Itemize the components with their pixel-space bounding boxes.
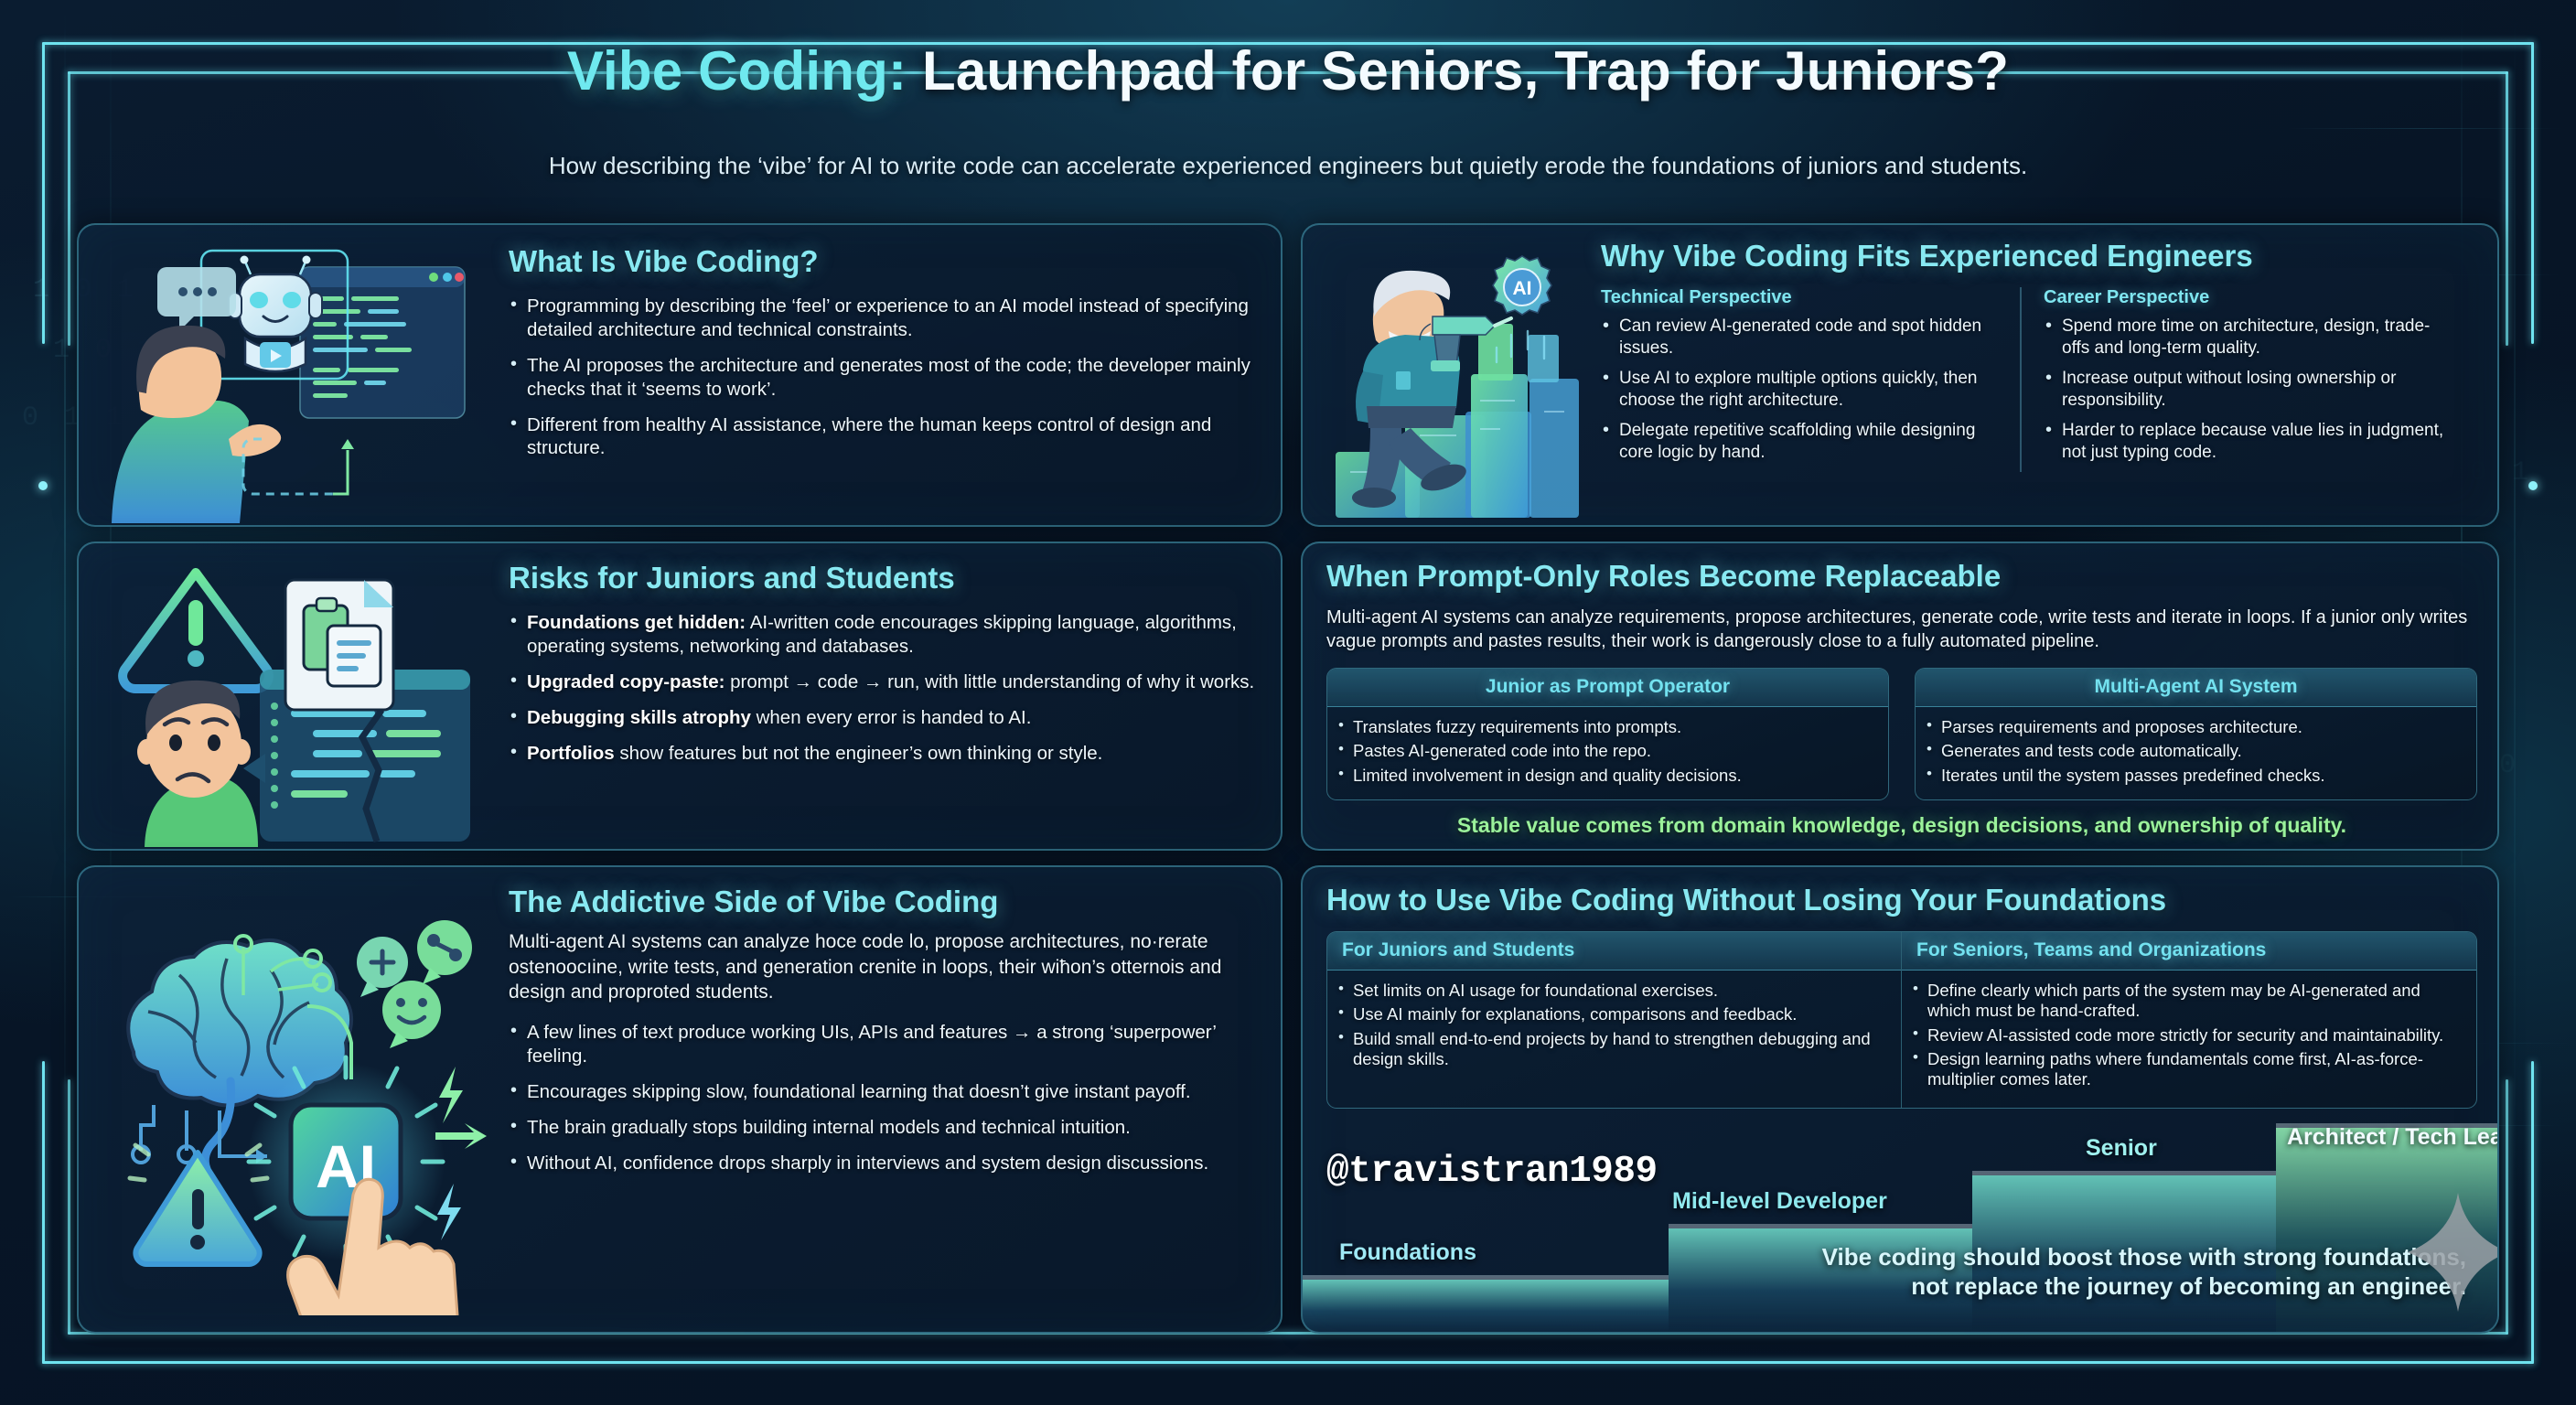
page-subtitle: How describing the ‘vibe’ for AI to writ…	[0, 152, 2576, 180]
list-item: Programming by describing the ‘feel’ or …	[509, 295, 1268, 342]
stair-step-foundations	[1303, 1275, 1669, 1332]
panel-title-why-fits: Why Vibe Coding Fits Experienced Enginee…	[1601, 240, 2485, 273]
risk-rest: show features but not the engineer’s own…	[615, 743, 1103, 764]
panel-title-what-is: What Is Vibe Coding?	[509, 245, 1268, 278]
list-item: The brain gradually stops building inter…	[509, 1116, 1277, 1140]
card-heading: For Juniors and Students	[1327, 932, 1901, 971]
replaceable-intro: Multi-agent AI systems can analyze requi…	[1326, 606, 2477, 653]
list-item: Parses requirements and proposes archite…	[1925, 717, 2463, 737]
brain-connected-to-ai-chip-with-pointing-hand-illustration: AI	[91, 887, 494, 1315]
what-is-bullet-list: Programming by describing the ‘feel’ or …	[509, 295, 1268, 460]
list-item: Pastes AI-generated code into the repo.	[1336, 741, 1875, 761]
list-item: Translates fuzzy requirements into promp…	[1336, 717, 1875, 737]
list-item: Debugging skills atrophy when every erro…	[509, 706, 1277, 730]
panel-why-fits-experienced-engineers: AI	[1301, 223, 2499, 527]
developer-talking-to-ai-chatbot-illustration	[91, 231, 476, 523]
list-item: Define clearly which parts of the system…	[1911, 981, 2463, 1021]
junior-bullet-list: Translates fuzzy requirements into promp…	[1336, 717, 1875, 786]
panel-risks-for-juniors: Risks for Juniors and Students Foundatio…	[77, 542, 1283, 851]
column-heading: Technical Perspective	[1601, 287, 2000, 308]
card-heading: Junior as Prompt Operator	[1327, 669, 1888, 707]
list-item: Upgraded copy-paste: prompt → code → run…	[509, 670, 1277, 694]
title-highlight: Vibe Coding:	[567, 40, 907, 102]
list-item: The AI proposes the architecture and gen…	[509, 354, 1268, 402]
risks-bullet-list: Foundations get hidden: AI-written code …	[509, 611, 1277, 765]
stair-label-foundations: Foundations	[1339, 1239, 1476, 1266]
list-item: Without AI, confidence drops sharply in …	[509, 1152, 1277, 1175]
list-item: Review AI-assisted code more strictly fo…	[1911, 1025, 2463, 1046]
panel-title-risks: Risks for Juniors and Students	[509, 562, 1277, 595]
multi-agent-bullet-list: Parses requirements and proposes archite…	[1925, 717, 2463, 786]
panel-addictive-side: AI	[77, 865, 1283, 1334]
stair-label-senior: Senior	[2086, 1135, 2157, 1162]
list-item: Different from healthy AI assistance, wh…	[509, 413, 1268, 461]
list-item: Use AI mainly for explanations, comparis…	[1336, 1004, 1888, 1024]
list-item: Delegate repetitive scaffolding while de…	[1601, 420, 2000, 464]
panel-title-replaceable: When Prompt-Only Roles Become Replaceabl…	[1326, 560, 2477, 593]
juniors-guidance-list: Set limits on AI usage for foundational …	[1336, 981, 1888, 1069]
risk-rest: prompt → code → run, with little underst…	[724, 671, 1254, 692]
addictive-intro: Multi-agent AI systems can analyze hoce …	[509, 929, 1277, 1004]
card-multi-agent-ai-system: Multi-Agent AI System Parses requirement…	[1915, 668, 2477, 800]
author-handle: @travistran1989	[1326, 1151, 1658, 1193]
column-seniors-teams-orgs: For Seniors, Teams and Organizations Def…	[1902, 932, 2476, 1108]
closing-line-1: Vibe coding should boost those with stro…	[1822, 1243, 2466, 1271]
list-item: Increase output without losing ownership…	[2044, 368, 2452, 412]
list-item: Build small end-to-end projects by hand …	[1336, 1029, 1888, 1069]
list-item: Foundations get hidden: AI-written code …	[509, 611, 1277, 659]
list-item: Use AI to explore multiple options quick…	[1601, 368, 2000, 412]
career-perspective-column: Career Perspective Spend more time on ar…	[2022, 287, 2452, 472]
list-item: Encourages skipping slow, foundational l…	[509, 1080, 1277, 1104]
card-heading: For Seniors, Teams and Organizations	[1902, 932, 2476, 971]
list-item: Design learning paths where fundamentals…	[1911, 1049, 2463, 1089]
sparkle-icon	[2408, 1193, 2499, 1312]
risk-lead: Foundations get hidden:	[527, 612, 746, 633]
panel-what-is-vibe-coding: What Is Vibe Coding? Programming by desc…	[77, 223, 1283, 527]
risk-lead: Upgraded copy-paste:	[527, 671, 724, 692]
card-heading: Multi-Agent AI System	[1916, 669, 2476, 707]
seniors-guidance-list: Define clearly which parts of the system…	[1911, 981, 2463, 1089]
risk-lead: Portfolios	[527, 743, 615, 764]
technical-bullet-list: Can review AI-generated code and spot hi…	[1601, 316, 2000, 464]
page-title: Vibe Coding: Launchpad for Seniors, Trap…	[0, 42, 2576, 101]
list-item: Portfolios show features but not the eng…	[509, 742, 1277, 766]
panel-how-to-use-without-losing-foundations: How to Use Vibe Coding Without Losing Yo…	[1301, 865, 2499, 1334]
column-juniors-students: For Juniors and Students Set limits on A…	[1327, 932, 1902, 1108]
list-item: Spend more time on architecture, design,…	[2044, 316, 2452, 359]
list-item: Can review AI-generated code and spot hi…	[1601, 316, 2000, 359]
career-bullet-list: Spend more time on architecture, design,…	[2044, 316, 2452, 464]
title-rest: Launchpad for Seniors, Trap for Juniors?	[907, 40, 2009, 102]
panel-title-how-to-use: How to Use Vibe Coding Without Losing Yo…	[1326, 884, 2477, 917]
list-item: Set limits on AI usage for foundational …	[1336, 981, 1888, 1001]
column-heading: Career Perspective	[2044, 287, 2452, 308]
closing-line-2: not replace the journey of becoming an e…	[1911, 1272, 2466, 1300]
addictive-bullet-list: A few lines of text produce working UIs,…	[509, 1021, 1277, 1174]
closing-message: Vibe coding should boost those with stro…	[1771, 1242, 2466, 1301]
stair-label-architect: Architect / Tech Lead	[2287, 1124, 2499, 1151]
list-item: Iterates until the system passes predefi…	[1925, 766, 2463, 786]
technical-perspective-column: Technical Perspective Can review AI-gene…	[1601, 287, 2022, 472]
list-item: Harder to replace because value lies in …	[2044, 420, 2452, 464]
list-item: Limited involvement in design and qualit…	[1336, 766, 1875, 786]
stair-label-mid-level: Mid-level Developer	[1672, 1188, 1887, 1215]
risk-rest: when every error is handed to AI.	[751, 707, 1032, 728]
risk-lead: Debugging skills atrophy	[527, 707, 751, 728]
senior-engineer-with-drill-and-ai-gear-illustration: AI	[1317, 232, 1592, 521]
replaceable-footer-note: Stable value comes from domain knowledge…	[1326, 813, 2477, 838]
card-junior-as-prompt-operator: Junior as Prompt Operator Translates fuz…	[1326, 668, 1889, 800]
warning-triangle-clipboard-worried-student-illustration	[93, 549, 478, 847]
list-item: Generates and tests code automatically.	[1925, 741, 2463, 761]
panel-title-addictive: The Addictive Side of Vibe Coding	[509, 885, 1277, 918]
list-item: A few lines of text produce working UIs,…	[509, 1021, 1277, 1068]
panel-when-prompt-only-replaceable: When Prompt-Only Roles Become Replaceabl…	[1301, 542, 2499, 851]
svg-text:AI: AI	[1513, 278, 1532, 299]
how-to-use-comparison-table: For Juniors and Students Set limits on A…	[1326, 931, 2477, 1109]
